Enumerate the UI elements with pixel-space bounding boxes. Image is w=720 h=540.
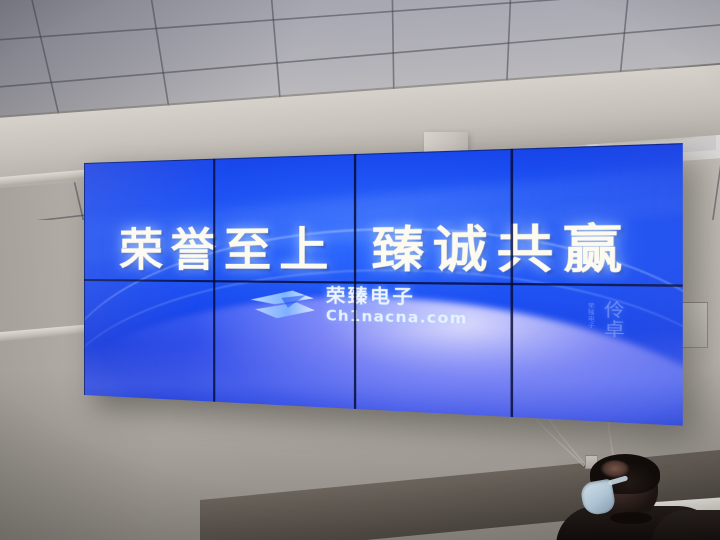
watermark-main-text: 伶卓 bbox=[600, 300, 629, 339]
chevron-arrow-logo-icon bbox=[248, 288, 317, 321]
person-collar bbox=[610, 512, 652, 524]
slide-headline: 荣誉至上臻诚共赢 bbox=[84, 205, 683, 283]
photo-scene: 荣誉至上臻诚共赢 bbox=[0, 0, 720, 540]
seated-person bbox=[556, 452, 720, 540]
watermark-small-text: 荣臻电子 bbox=[587, 302, 596, 328]
headline-part-2: 臻诚共赢 bbox=[371, 219, 632, 280]
brand-url: Ch1nacna.com bbox=[326, 309, 468, 326]
video-wall-display[interactable]: 荣誉至上臻诚共赢 bbox=[84, 143, 683, 426]
brand-text-block: 荣臻电子 Ch1nacna.com bbox=[326, 287, 468, 326]
slide-content: 荣誉至上臻诚共赢 bbox=[84, 143, 683, 426]
headline-part-1: 荣誉至上 bbox=[119, 222, 336, 278]
slide-watermark: 荣臻电子 伶卓 bbox=[587, 300, 629, 339]
video-wall-screen: 荣誉至上臻诚共赢 bbox=[84, 143, 683, 426]
brand-name-cn: 荣臻电子 bbox=[326, 287, 468, 308]
